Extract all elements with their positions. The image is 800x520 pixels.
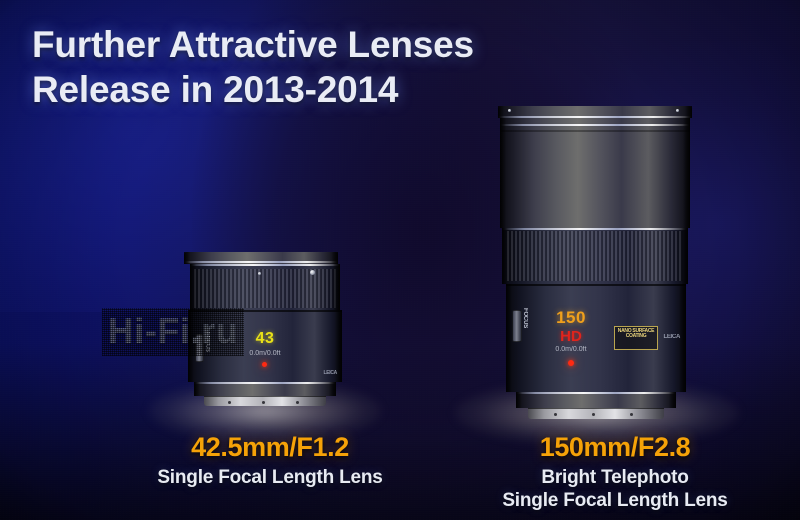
- product-spec-label: 150mm/F2.8: [455, 432, 775, 463]
- lens-index-dot-icon: [262, 362, 267, 367]
- lens-switch-label: FOCUS: [522, 308, 528, 328]
- watermark: Hi-Fi.ru: [108, 312, 238, 352]
- lens-focus-ring: [502, 228, 688, 284]
- lens-index-marker-icon: [258, 272, 261, 275]
- lens-focal-number: 150: [534, 308, 608, 328]
- lens-rear-collar: [194, 382, 336, 396]
- product-description-line-1: Bright Telephoto: [455, 466, 775, 489]
- caption-lens-42-5mm: 42.5mm/F1.2 Single Focal Length Lens: [130, 432, 410, 489]
- lens-hd-badge: HD: [534, 328, 608, 345]
- lens-brand-mark: LEICA: [663, 334, 680, 340]
- lens-hood-top-ring: [498, 106, 692, 118]
- product-description-line-1: Single Focal Length Lens: [130, 466, 410, 489]
- nano-surface-coating-badge: NANO SURFACE COATING: [614, 326, 658, 350]
- lens-front-ring: [184, 252, 338, 264]
- lens-hood-body: [500, 118, 690, 228]
- lens-focus-ring: [190, 264, 340, 310]
- product-spec-label: 42.5mm/F1.2: [130, 432, 410, 463]
- lens-highlight-dot-icon: [310, 270, 315, 275]
- product-description-line-2: Single Focal Length Lens: [455, 489, 775, 512]
- lens-rear-collar: [516, 392, 676, 408]
- lens-brand-mark: LEICA: [323, 370, 337, 376]
- lens-focus-switch[interactable]: [512, 310, 522, 342]
- coating-badge-line-2: COATING: [615, 334, 657, 339]
- lens-screw-icon: [508, 109, 511, 112]
- lens-mount: [204, 396, 326, 406]
- presentation-slide: Further Attractive Lenses Release in 201…: [0, 0, 800, 520]
- product-image-lens-150mm: 150 HD 0.0m/0.0ft NANO SURFACE COATING F…: [480, 100, 710, 430]
- lens-index-dot-icon: [568, 360, 574, 366]
- lens-distance-scale: 0.0m/0.0ft: [534, 346, 608, 353]
- slide-title: Further Attractive Lenses Release in 201…: [32, 22, 592, 112]
- lens-mount: [528, 408, 664, 419]
- lens-screw-icon: [676, 109, 679, 112]
- lens-barrel: 150 HD 0.0m/0.0ft NANO SURFACE COATING F…: [506, 284, 686, 392]
- slide-title-line-1: Further Attractive Lenses: [32, 22, 592, 67]
- caption-lens-150mm: 150mm/F2.8 Bright Telephoto Single Focal…: [455, 432, 775, 512]
